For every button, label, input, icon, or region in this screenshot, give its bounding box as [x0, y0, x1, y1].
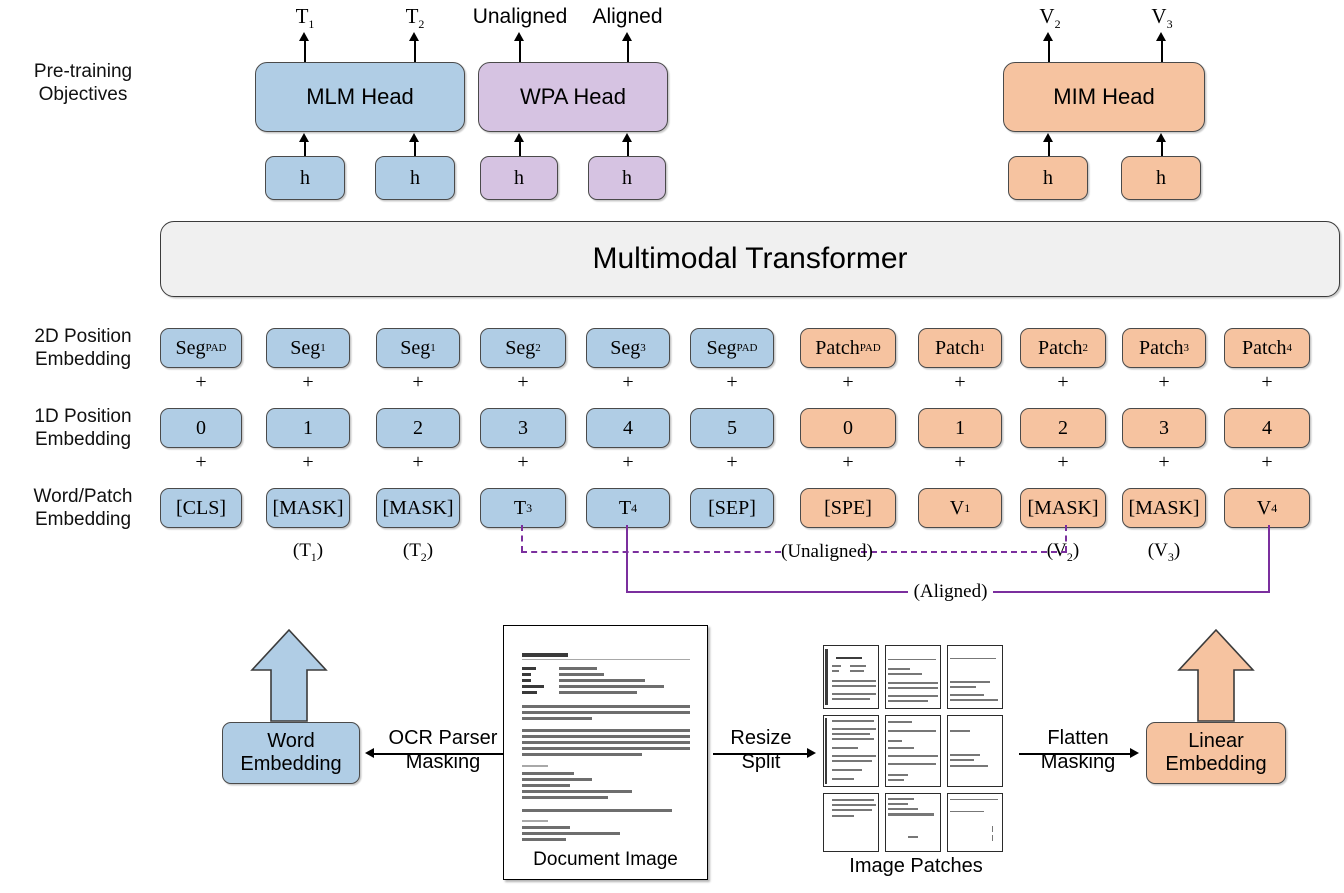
output-sub: 3 — [1167, 17, 1173, 31]
pos2d-base: Seg — [176, 337, 206, 360]
mlm-head-label: MLM Head — [306, 84, 414, 110]
aligned-connector-right-stem — [1268, 525, 1270, 593]
image-patch[interactable] — [885, 793, 941, 852]
pos1d-embedding-box-3[interactable]: 3 — [480, 408, 566, 448]
pos1d-embedding-box-8[interactable]: 2 — [1020, 408, 1106, 448]
plus-symbol-1d-token-5: + — [720, 451, 744, 474]
pos2d-embedding-box-1[interactable]: Seg1 — [266, 328, 350, 368]
output-label-aligned: Aligned — [570, 5, 685, 29]
plus-symbol-2d-1d-7: + — [948, 371, 972, 394]
pos1d-embedding-box-6[interactable]: 0 — [800, 408, 896, 448]
token-base: V — [1257, 497, 1271, 520]
pos1d-embedding-box-5[interactable]: 5 — [690, 408, 774, 448]
plus-symbol-2d-1d-8: + — [1051, 371, 1075, 394]
plus-symbol-1d-token-3: + — [511, 451, 535, 474]
mim-head-box[interactable]: MIM Head — [1003, 62, 1205, 132]
pos2d-embedding-box-3[interactable]: Seg2 — [480, 328, 566, 368]
plus-symbol-2d-1d-4: + — [616, 371, 640, 394]
arrow-head-h2-to-mlm — [409, 133, 419, 142]
arrow-head-mlm-to-t1 — [299, 32, 309, 41]
token-embedding-box-1[interactable]: [MASK] — [266, 488, 350, 528]
word-embedding-line1: Word — [267, 730, 314, 753]
arrow-shaft-mim-to-v2 — [1048, 38, 1050, 62]
gloss-base: V — [1154, 540, 1168, 561]
unaligned-connector-right-run — [861, 551, 1067, 553]
ocr-label-line2: Masking — [375, 750, 511, 774]
token-gloss-1: (T1) — [268, 540, 348, 562]
pos1d-value: 4 — [1262, 417, 1272, 440]
gloss-base: T — [299, 540, 311, 561]
arrow-head-wpa-to-unaligned — [514, 32, 524, 41]
hidden-state-box-4[interactable]: h — [588, 156, 666, 200]
plus-symbol-2d-1d-10: + — [1255, 371, 1279, 394]
plus-symbol-1d-token-1: + — [296, 451, 320, 474]
pos2d-embedding-box-6[interactable]: PatchPAD — [800, 328, 896, 368]
aligned-connector-left-run — [626, 591, 908, 593]
unaligned-label: (Unaligned) — [781, 541, 861, 563]
image-patch[interactable] — [947, 645, 1003, 709]
hidden-state-box-1[interactable]: h — [265, 156, 345, 200]
token-embedding-box-2[interactable]: [MASK] — [376, 488, 460, 528]
pos1d-value: 2 — [1058, 417, 1068, 440]
mim-head-label: MIM Head — [1053, 84, 1154, 110]
resize-label-line2: Split — [718, 750, 804, 774]
linear-embedding-up-arrow-icon — [1177, 628, 1255, 723]
flatten-masking-label: Flatten Masking — [1026, 726, 1130, 774]
hidden-state-label: h — [1156, 167, 1166, 190]
pos2d-embedding-box-4[interactable]: Seg3 — [586, 328, 670, 368]
image-patch[interactable] — [823, 715, 879, 787]
pos1d-value: 4 — [623, 417, 633, 440]
row-label-line1: Pre-training — [8, 60, 158, 83]
row-label-line1: 1D Position — [8, 405, 158, 428]
pos2d-embedding-box-2[interactable]: Seg1 — [376, 328, 460, 368]
token-base: [MASK] — [1128, 497, 1199, 520]
arrow-head-h4-to-wpa — [622, 133, 632, 142]
token-embedding-box-7[interactable]: V1 — [918, 488, 1002, 528]
hidden-state-label: h — [300, 167, 310, 190]
output-base: T — [296, 4, 309, 28]
hidden-state-box-2[interactable]: h — [375, 156, 455, 200]
aligned-connector-right-run — [993, 591, 1270, 593]
flatten-arrow-head — [1130, 748, 1139, 758]
pos2d-base: Seg — [400, 337, 430, 360]
plus-symbol-1d-token-6: + — [836, 451, 860, 474]
mlm-head-box[interactable]: MLM Head — [255, 62, 465, 132]
arrow-head-mlm-to-t2 — [409, 32, 419, 41]
arrow-head-mim-to-v2 — [1043, 32, 1053, 41]
plus-symbol-2d-1d-9: + — [1152, 371, 1176, 394]
token-embedding-box-0[interactable]: [CLS] — [160, 488, 242, 528]
hidden-state-box-5[interactable]: h — [1008, 156, 1088, 200]
pos1d-value: 5 — [727, 417, 737, 440]
arrow-head-mim-to-v3 — [1156, 32, 1166, 41]
pos1d-value: 0 — [843, 417, 853, 440]
ocr-label-line1: OCR Parser — [375, 726, 511, 750]
token-gloss-2: (T2) — [378, 540, 458, 562]
output-label-v3: V3 — [1112, 4, 1212, 29]
row-label-line2: Objectives — [8, 83, 158, 106]
hidden-state-label: h — [622, 167, 632, 190]
aligned-connector-left-stem — [626, 525, 628, 593]
token-embedding-box-5[interactable]: [SEP] — [690, 488, 774, 528]
unaligned-connector-left-run — [521, 551, 781, 553]
hidden-state-label: h — [1043, 167, 1053, 190]
plus-symbol-2d-1d-3: + — [511, 371, 535, 394]
token-base: T — [514, 497, 526, 520]
pos2d-base: Patch — [1242, 337, 1286, 360]
pos2d-base: Seg — [707, 337, 737, 360]
pos1d-value: 0 — [196, 417, 206, 440]
row-label-line1: Word/Patch — [8, 485, 158, 508]
pos2d-embedding-box-5[interactable]: SegPAD — [690, 328, 774, 368]
pos2d-base: Patch — [815, 337, 859, 360]
arrow-head-h6-to-mim — [1156, 133, 1166, 142]
output-base: V — [1151, 4, 1166, 28]
wpa-head-label: WPA Head — [520, 84, 626, 110]
row-label-2d-position-embedding: 2D Position Embedding — [8, 325, 158, 371]
plus-symbol-1d-token-2: + — [406, 451, 430, 474]
pos2d-base: Patch — [935, 337, 979, 360]
multimodal-transformer-box[interactable]: Multimodal Transformer — [160, 221, 1340, 297]
arrow-shaft-wpa-to-unaligned — [519, 38, 521, 62]
pos1d-embedding-box-9[interactable]: 3 — [1122, 408, 1206, 448]
token-base: [MASK] — [272, 497, 343, 520]
plus-symbol-1d-token-4: + — [616, 451, 640, 474]
resize-label-line1: Resize — [718, 726, 804, 750]
image-patch[interactable] — [823, 793, 879, 852]
pos2d-embedding-box-10[interactable]: Patch4 — [1224, 328, 1310, 368]
image-patch[interactable] — [823, 645, 879, 709]
arrow-shaft-wpa-to-aligned — [627, 38, 629, 62]
pos1d-embedding-box-10[interactable]: 4 — [1224, 408, 1310, 448]
plus-symbol-2d-1d-5: + — [720, 371, 744, 394]
image-patch[interactable] — [885, 715, 941, 787]
plus-symbol-1d-token-0: + — [189, 451, 213, 474]
token-embedding-box-9[interactable]: [MASK] — [1122, 488, 1206, 528]
token-embedding-box-10[interactable]: V4 — [1224, 488, 1310, 528]
token-base: T — [619, 497, 631, 520]
pos1d-embedding-box-7[interactable]: 1 — [918, 408, 1002, 448]
token-base: V — [950, 497, 964, 520]
output-label-v2: V2 — [1000, 4, 1100, 29]
token-embedding-box-8[interactable]: [MASK] — [1020, 488, 1106, 528]
pos2d-base: Patch — [1038, 337, 1082, 360]
token-gloss-9: (V3) — [1124, 540, 1204, 562]
pos2d-embedding-box-0[interactable]: SegPAD — [160, 328, 242, 368]
pos2d-base: Seg — [505, 337, 535, 360]
arrow-head-h5-to-mim — [1043, 133, 1053, 142]
token-embedding-box-3[interactable]: T3 — [480, 488, 566, 528]
plus-symbol-2d-1d-2: + — [406, 371, 430, 394]
token-base: [SEP] — [708, 497, 756, 520]
document-image[interactable]: Document Image — [503, 625, 708, 880]
image-patches-grid[interactable] — [823, 645, 1009, 850]
gloss-base: T — [409, 540, 421, 561]
token-base: [MASK] — [1027, 497, 1098, 520]
output-label-t1: T1 — [255, 4, 355, 29]
pos1d-value: 1 — [955, 417, 965, 440]
word-embedding-up-arrow-icon — [250, 628, 328, 723]
pos1d-value: 2 — [413, 417, 423, 440]
pos1d-value: 3 — [1159, 417, 1169, 440]
output-label-t2: T2 — [365, 4, 465, 29]
pos1d-value: 1 — [303, 417, 313, 440]
output-sub: 2 — [418, 17, 424, 31]
plus-symbol-1d-token-7: + — [948, 451, 972, 474]
image-patch[interactable] — [947, 715, 1003, 787]
pos1d-embedding-box-4[interactable]: 4 — [586, 408, 670, 448]
row-label-word-patch-embedding: Word/Patch Embedding — [8, 485, 158, 531]
unaligned-connector-right-stem — [1065, 525, 1067, 552]
pos1d-embedding-box-0[interactable]: 0 — [160, 408, 242, 448]
multimodal-transformer-label: Multimodal Transformer — [592, 242, 907, 276]
arrow-head-h3-to-wpa — [514, 133, 524, 142]
flatten-label-line2: Masking — [1026, 750, 1130, 774]
pos2d-base: Seg — [610, 337, 640, 360]
linear-embedding-box[interactable]: Linear Embedding — [1146, 722, 1286, 784]
pos1d-value: 3 — [518, 417, 528, 440]
hidden-state-label: h — [410, 167, 420, 190]
plus-symbol-2d-1d-6: + — [836, 371, 860, 394]
linear-embedding-line2: Embedding — [1165, 753, 1266, 776]
output-sub: 2 — [1055, 17, 1061, 31]
row-label-pretraining-objectives: Pre-training Objectives — [8, 60, 158, 106]
row-label-1d-position-embedding: 1D Position Embedding — [8, 405, 158, 451]
token-embedding-box-6[interactable]: [SPE] — [800, 488, 896, 528]
output-base: T — [406, 4, 419, 28]
word-embedding-line2: Embedding — [240, 753, 341, 776]
token-base: [CLS] — [176, 497, 226, 520]
token-base: [SPE] — [824, 497, 872, 520]
image-patch[interactable] — [947, 793, 1003, 852]
row-label-line2: Embedding — [8, 428, 158, 451]
image-patch[interactable] — [885, 645, 941, 709]
plus-symbol-1d-token-9: + — [1152, 451, 1176, 474]
image-patches-caption: Image Patches — [823, 855, 1009, 878]
pos2d-embedding-box-8[interactable]: Patch2 — [1020, 328, 1106, 368]
pos1d-embedding-box-2[interactable]: 2 — [376, 408, 460, 448]
resize-arrow-head — [807, 748, 816, 758]
pos2d-base: Patch — [1139, 337, 1183, 360]
ocr-parser-masking-label: OCR Parser Masking — [375, 726, 511, 774]
hidden-state-box-3[interactable]: h — [480, 156, 558, 200]
plus-symbol-2d-1d-1: + — [296, 371, 320, 394]
hidden-state-label: h — [514, 167, 524, 190]
plus-symbol-1d-token-8: + — [1051, 451, 1075, 474]
resize-split-label: Resize Split — [718, 726, 804, 774]
arrow-shaft-mlm-to-t2 — [414, 38, 416, 62]
pos2d-embedding-box-9[interactable]: Patch3 — [1122, 328, 1206, 368]
hidden-state-box-6[interactable]: h — [1121, 156, 1201, 200]
output-base: V — [1039, 4, 1054, 28]
plus-symbol-2d-1d-0: + — [189, 371, 213, 394]
pos1d-embedding-box-1[interactable]: 1 — [266, 408, 350, 448]
pos2d-base: Seg — [290, 337, 320, 360]
aligned-label: (Aligned) — [908, 581, 993, 603]
plus-symbol-1d-token-10: + — [1255, 451, 1279, 474]
document-image-caption: Document Image — [504, 849, 707, 871]
pos2d-embedding-box-7[interactable]: Patch1 — [918, 328, 1002, 368]
wpa-head-box[interactable]: WPA Head — [478, 62, 668, 132]
diagram-canvas: Pre-training Objectives 2D Position Embe… — [0, 0, 1344, 893]
arrow-head-h1-to-mlm — [299, 133, 309, 142]
output-label-unaligned: Unaligned — [455, 5, 585, 29]
word-embedding-box[interactable]: Word Embedding — [222, 722, 360, 784]
token-base: [MASK] — [382, 497, 453, 520]
arrow-head-wpa-to-aligned — [622, 32, 632, 41]
arrow-shaft-mlm-to-t1 — [304, 38, 306, 62]
flatten-label-line1: Flatten — [1026, 726, 1130, 750]
output-sub: 1 — [308, 17, 314, 31]
unaligned-connector-left-stem — [521, 525, 523, 552]
arrow-shaft-mim-to-v3 — [1161, 38, 1163, 62]
token-embedding-box-4[interactable]: T4 — [586, 488, 670, 528]
row-label-line2: Embedding — [8, 508, 158, 531]
row-label-line2: Embedding — [8, 348, 158, 371]
row-label-line1: 2D Position — [8, 325, 158, 348]
linear-embedding-line1: Linear — [1188, 730, 1244, 753]
ocr-arrow-head — [365, 748, 374, 758]
